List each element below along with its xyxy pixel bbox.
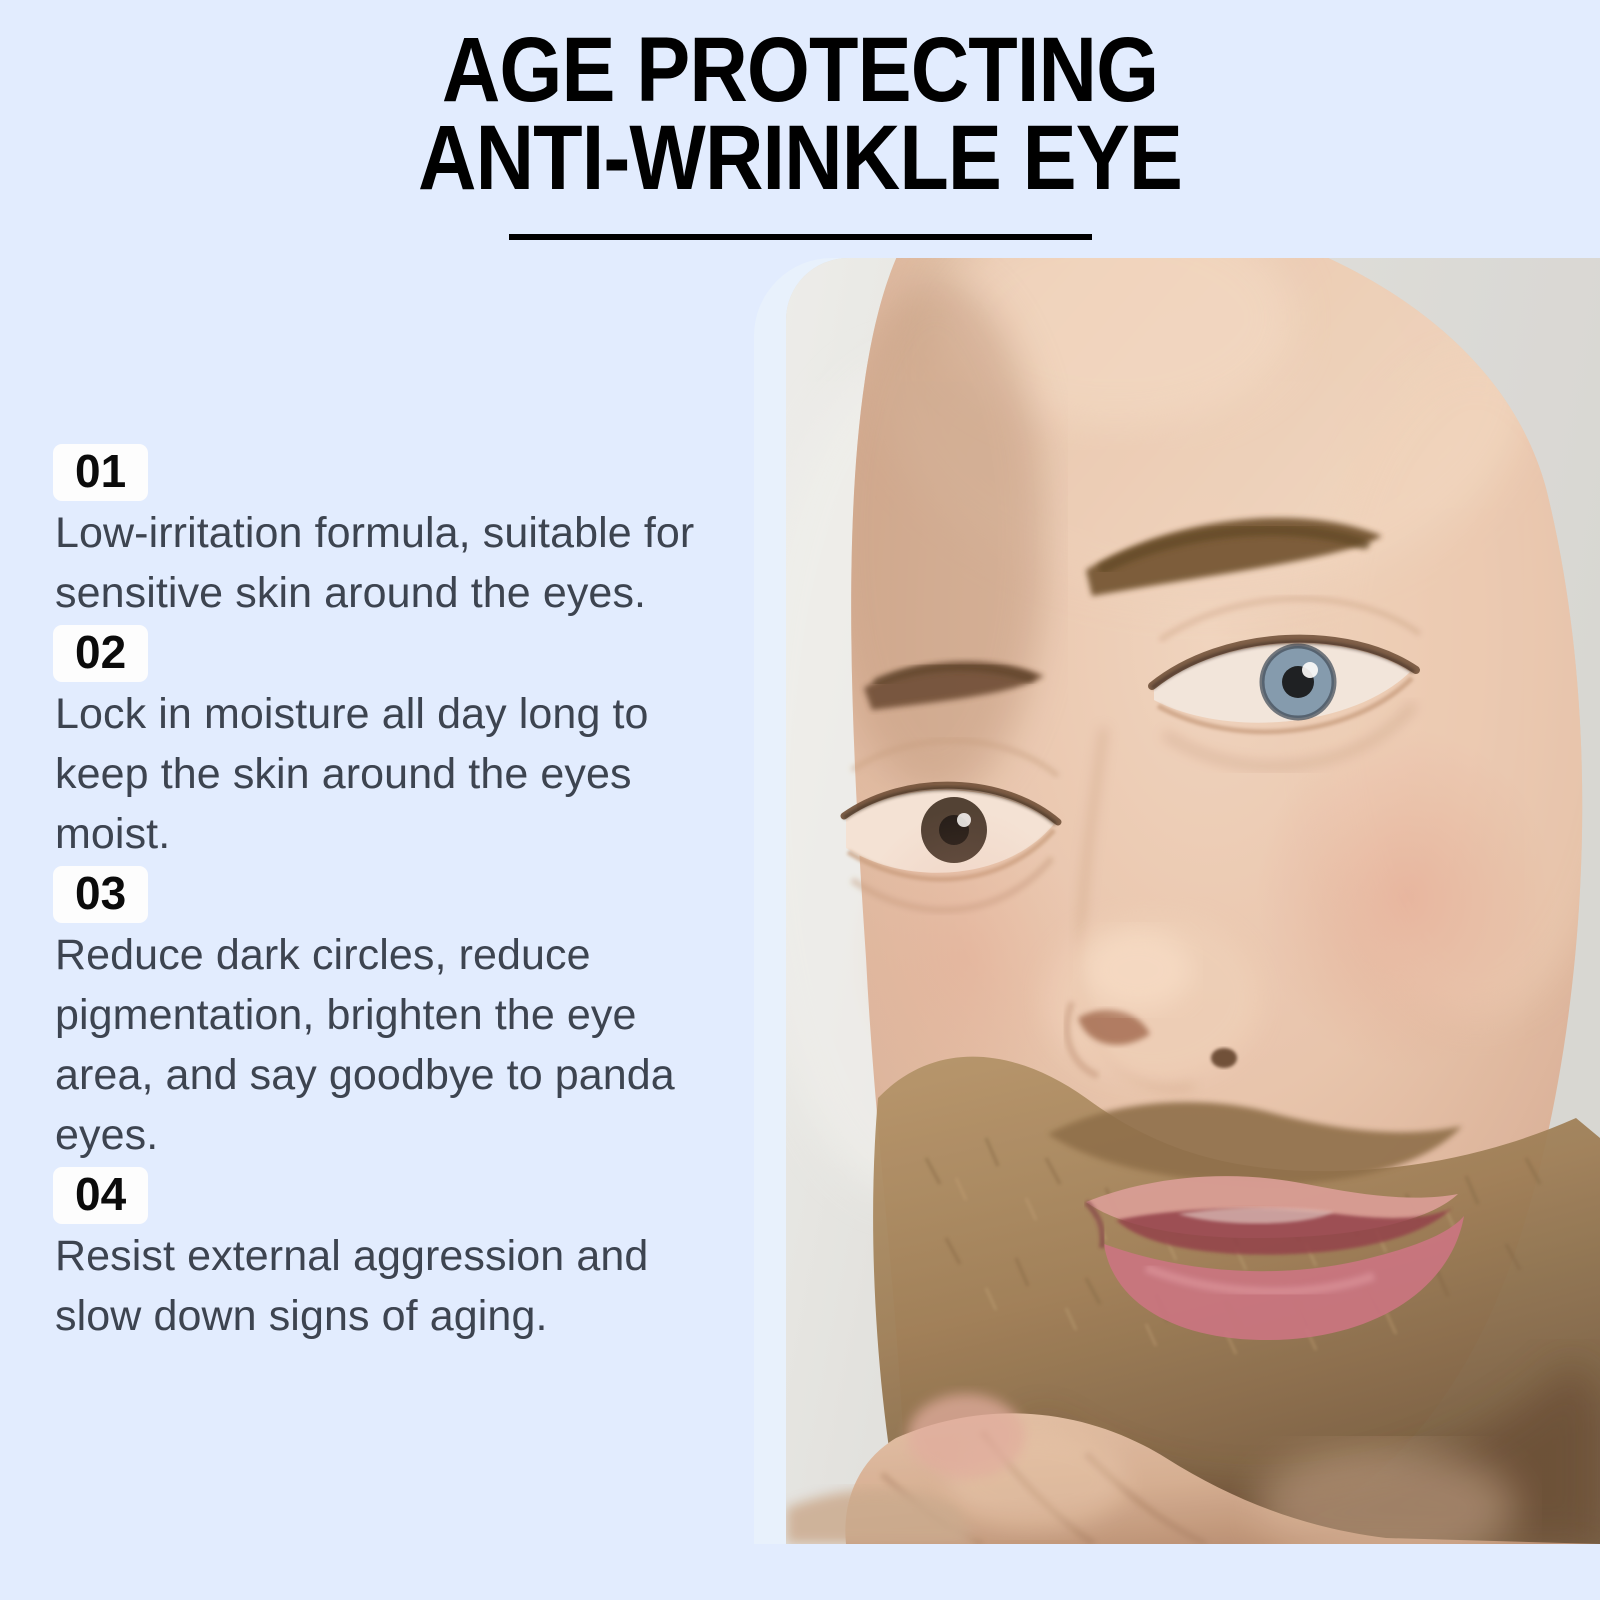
portrait-photo-illustration [786, 258, 1600, 1544]
title-underline-rule [509, 234, 1092, 240]
feature-item-03: 03 Reduce dark circles, reduce pigmentat… [53, 866, 701, 1165]
feature-item-01: 01 Low-irritation formula, suitable for … [53, 444, 701, 623]
feature-number-badge-04: 04 [53, 1167, 148, 1224]
title-line-2: ANTI-WRINKLE EYE [96, 114, 1504, 202]
feature-number-badge-02: 02 [53, 625, 148, 682]
page-title: AGE PROTECTING ANTI-WRINKLE EYE [0, 26, 1600, 240]
feature-number-badge-01: 01 [53, 444, 148, 501]
title-line-1: AGE PROTECTING [96, 26, 1504, 114]
feature-text-02: Lock in moisture all day long to keep th… [55, 684, 701, 864]
feature-text-01: Low-irritation formula, suitable for sen… [55, 503, 701, 623]
feature-item-04: 04 Resist external aggression and slow d… [53, 1167, 701, 1346]
feature-text-04: Resist external aggression and slow down… [55, 1226, 701, 1346]
feature-text-03: Reduce dark circles, reduce pigmentation… [55, 925, 701, 1165]
feature-list: 01 Low-irritation formula, suitable for … [53, 444, 701, 1348]
portrait-photo [786, 258, 1600, 1544]
feature-item-02: 02 Lock in moisture all day long to keep… [53, 625, 701, 864]
feature-number-badge-03: 03 [53, 866, 148, 923]
